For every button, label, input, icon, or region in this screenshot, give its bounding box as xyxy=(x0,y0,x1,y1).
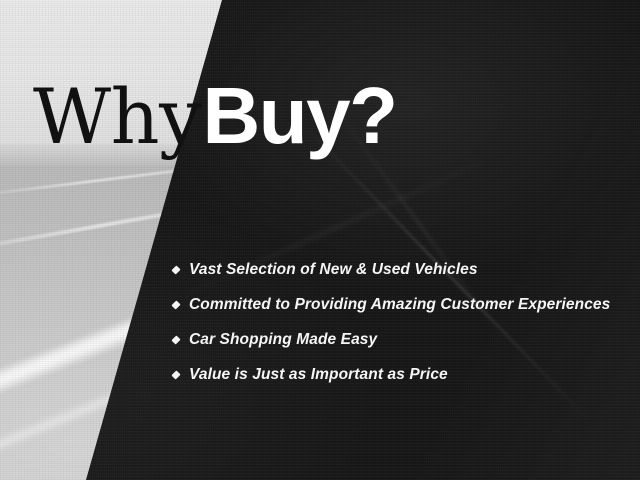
diamond-bullet-icon xyxy=(172,371,180,379)
list-item: Car Shopping Made Easy xyxy=(172,322,610,357)
headline-word-buy: Buy? xyxy=(203,71,397,160)
list-item-label: Committed to Providing Amazing Customer … xyxy=(189,296,610,314)
list-item: Vast Selection of New & Used Vehicles xyxy=(172,252,610,287)
list-item-label: Vast Selection of New & Used Vehicles xyxy=(189,261,478,279)
diamond-bullet-icon xyxy=(172,301,180,309)
why-buy-slide: WhyBuy? Vast Selection of New & Used Veh… xyxy=(0,0,640,480)
list-item-label: Value is Just as Important as Price xyxy=(189,366,448,384)
diamond-bullet-icon xyxy=(172,336,180,344)
headline-word-why: Why xyxy=(33,72,202,161)
list-item-label: Car Shopping Made Easy xyxy=(189,331,377,349)
list-item: Committed to Providing Amazing Customer … xyxy=(172,287,610,322)
headline: WhyBuy? xyxy=(33,76,397,156)
list-item: Value is Just as Important as Price xyxy=(172,357,610,392)
diamond-bullet-icon xyxy=(172,266,180,274)
benefits-list: Vast Selection of New & Used Vehicles Co… xyxy=(172,252,610,392)
